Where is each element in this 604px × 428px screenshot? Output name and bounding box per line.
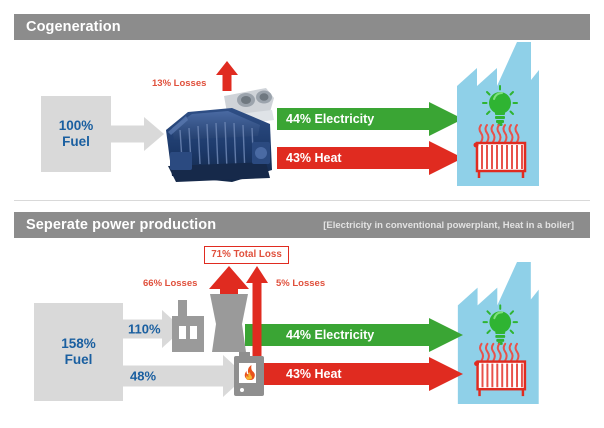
arrow-head [216,61,238,75]
boiler-loss-label: 5% Losses [276,278,325,289]
section-header-cogeneration: Cogeneration [14,14,590,40]
fuel-flow-arrow-cogeneration [111,117,164,151]
section-title-separate: Seperate power production [26,217,216,233]
infographic-canvas: Cogeneration 100% Fuel 13% Losses [0,0,604,428]
electricity-output-label-separate: 44% Electricity [286,328,374,342]
arrow-shaft [111,126,144,143]
factory-building-icon-cogeneration [455,42,581,186]
electricity-output-label-cogeneration: 44% Electricity [286,112,374,126]
arrow-head [209,266,249,289]
powerplant-feed-label: 110% [128,322,161,337]
powerplant-loss-label: 66% Losses [143,278,197,289]
boiler-feed-label: 48% [130,369,156,384]
fuel-input-box-separate: 158% Fuel [34,303,123,401]
total-loss-badge: 71% Total Loss [204,246,289,264]
arrow-shaft [258,363,429,385]
boiler-loss-arrow [244,266,270,366]
fuel-input-label-separate: 158% Fuel [61,336,96,368]
factory-building-icon-separate [455,262,581,404]
arrow-head [429,318,463,352]
powerhouse-icon [172,300,204,352]
combustion-engine-icon [162,86,276,184]
fuel-input-label-cogeneration: 100% Fuel [59,118,94,150]
section-title-cogeneration: Cogeneration [26,19,121,35]
heat-output-label-separate: 43% Heat [286,367,342,381]
heat-output-label-cogeneration: 43% Heat [286,151,342,165]
section-subtitle-separate: [Electricity in conventional powerplant,… [323,220,578,231]
arrow-head [429,357,463,391]
section-divider [14,200,590,201]
section-header-separate: Seperate power production [Electricity i… [14,212,590,238]
boiler-flame-icon [234,352,266,398]
arrow-head [144,117,164,151]
fuel-input-box-cogeneration: 100% Fuel [41,96,111,172]
arrow-head [246,266,268,283]
